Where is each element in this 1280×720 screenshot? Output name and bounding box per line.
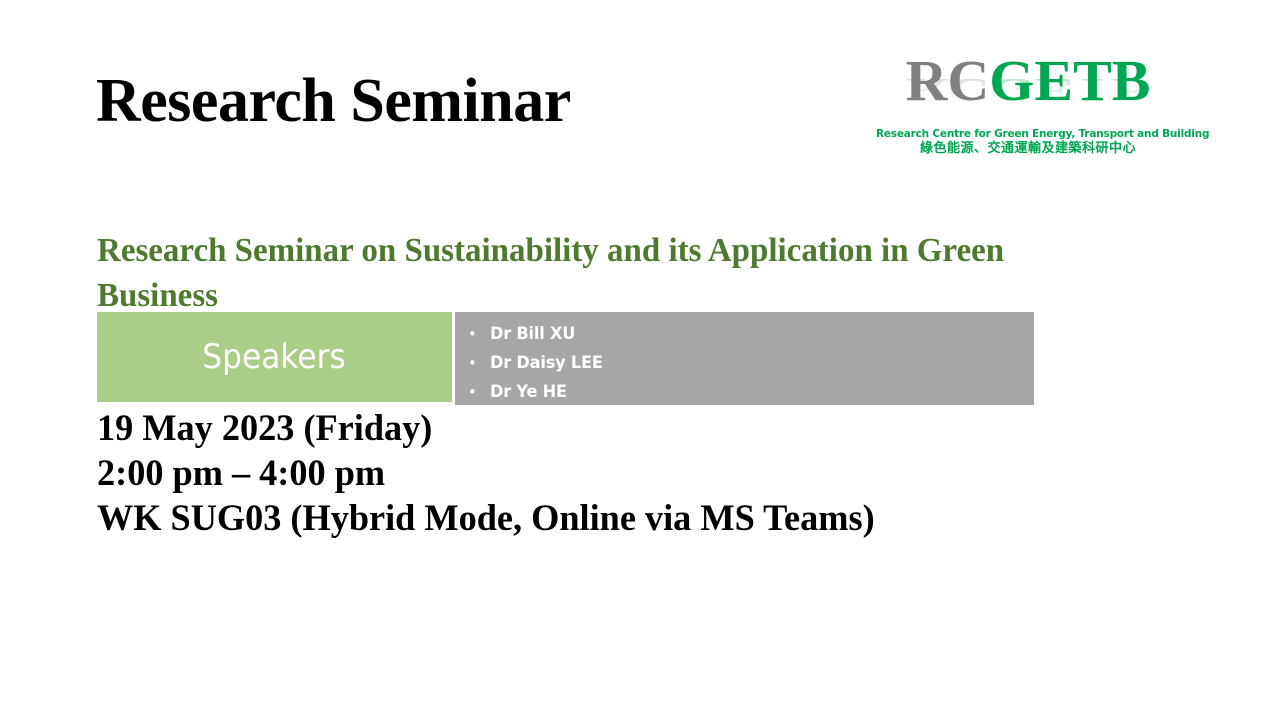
logo-wordmark-getb: GETB	[989, 48, 1150, 113]
speakers-list-cell: • Dr Bill XU • Dr Daisy LEE • Dr Ye HE	[455, 312, 1034, 405]
speakers-label-cell: Speakers	[97, 312, 452, 402]
logo-wordmark: RCGETB	[876, 52, 1180, 110]
seminar-subtitle: Research Seminar on Sustainability and i…	[97, 228, 1125, 318]
event-details: 19 May 2023 (Friday) 2:00 pm – 4:00 pm W…	[97, 406, 875, 541]
speakers-table: Speakers • Dr Bill XU • Dr Daisy LEE • D…	[97, 312, 1034, 405]
list-item: • Dr Ye HE	[455, 378, 1034, 407]
slide-canvas: Research Seminar RCGETB RCGETB Research …	[0, 0, 1280, 720]
speakers-label: Speakers	[203, 338, 347, 376]
bullet-icon: •	[468, 378, 490, 407]
speaker-name: Dr Bill XU	[490, 320, 575, 349]
event-date: 19 May 2023 (Friday)	[97, 406, 875, 451]
speaker-name: Dr Daisy LEE	[490, 349, 603, 378]
speaker-name: Dr Ye HE	[490, 378, 567, 407]
logo-wordmark-rc: RC	[906, 48, 990, 113]
rcgetb-logo: RCGETB RCGETB Research Centre for Green …	[876, 52, 1180, 160]
bullet-icon: •	[468, 320, 490, 349]
logo-tagline-chinese: 綠色能源、交通運輸及建築科研中心	[876, 141, 1180, 157]
list-item: • Dr Daisy LEE	[455, 349, 1034, 378]
list-item: • Dr Bill XU	[455, 320, 1034, 349]
page-title: Research Seminar	[96, 66, 571, 136]
logo-tagline-english: Research Centre for Green Energy, Transp…	[876, 128, 1180, 141]
event-time: 2:00 pm – 4:00 pm	[97, 451, 875, 496]
event-venue: WK SUG03 (Hybrid Mode, Online via MS Tea…	[97, 496, 875, 541]
bullet-icon: •	[468, 349, 490, 378]
